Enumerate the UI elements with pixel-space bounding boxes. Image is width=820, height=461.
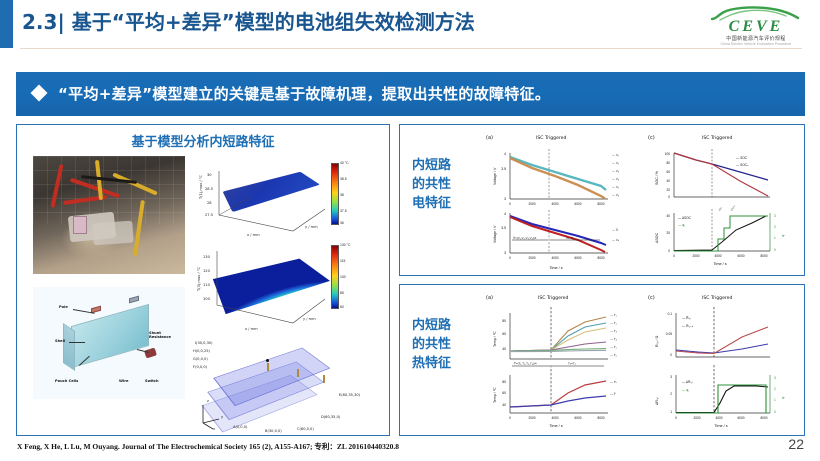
svg-text:2000: 2000 <box>528 416 535 420</box>
chart-c-svg: 100 80 60 40 20 0 SOC / % — SOC— SOCₙ 40 <box>646 135 798 269</box>
surface2-colorbar <box>331 245 339 309</box>
svg-text:2000: 2000 <box>693 416 700 420</box>
right-bottom-panel: 内短路 的共性 热特征 (a) ISC Triggered 80 60 40 T… <box>399 284 805 436</box>
module-point-label-B: B(30,0,0) <box>265 429 282 433</box>
svg-text:0: 0 <box>774 248 776 252</box>
svg-text:Time / s: Time / s <box>549 266 562 269</box>
chart-a-svg: 4 3.5 3 0 2000 4000 6000 8000 Voltage / … <box>484 135 634 269</box>
right-bottom-side-label-line-0: 内短路 <box>412 317 470 336</box>
chart-rb-a-isc-text: ISC Triggered <box>538 296 568 301</box>
title-separator: | <box>57 10 71 34</box>
pack-label-pouch-cells: Pouch Cells <box>55 379 78 383</box>
module-point-label-A: A(0,0,0) <box>233 425 247 429</box>
svg-text:— T₄: — T₄ <box>610 337 618 341</box>
header-accent-bar <box>0 0 13 48</box>
svg-text:2: 2 <box>774 387 776 391</box>
svg-text:— V₁: — V₁ <box>612 153 619 157</box>
battery-module-3d-probe-map: z y x I(30,0,30) H(0,0,25) G(0,0,0) F(0,… <box>193 327 383 433</box>
svg-text:0: 0 <box>509 202 511 206</box>
logo-en-name: China Electric Vehicle Evaluation Proced… <box>704 42 808 46</box>
left-panel-title: 基于模型分析内短路特征 <box>17 131 389 150</box>
right-top-side-label-line-1: 的共性 <box>412 176 470 195</box>
title-text: 基于“平均+差异”模型的电池组失效检测方法 <box>72 10 475 34</box>
svg-text:— ΔSOC: — ΔSOC <box>678 216 692 220</box>
surface1-colorbar-tick-2: 38 <box>340 193 344 197</box>
svg-text:φ: φ <box>781 234 785 237</box>
svg-text:t=tₑₙₐ: t=tₑₙₐ <box>729 204 735 211</box>
module-point-label-E: E(60,35,30) <box>339 393 360 397</box>
module-point-label-D: D(60,35,0) <box>321 415 340 419</box>
surface2-ylabel: y / mm <box>303 317 316 321</box>
module-point-label-I: I(30,0,30) <box>195 341 213 345</box>
svg-text:φ: φ <box>781 396 785 399</box>
svg-text:— T₆: — T₆ <box>610 353 618 357</box>
svg-text:— T₃: — T₃ <box>610 329 618 333</box>
surface1-colorbar-tick-0: 40 °C <box>340 161 349 165</box>
module-point-label-H: H(0,0,25) <box>193 349 210 353</box>
svg-text:8000: 8000 <box>597 202 604 206</box>
svg-text:80: 80 <box>502 380 506 384</box>
svg-text:R₍₁₎ / Ω: R₍₁₎ / Ω <box>655 335 659 347</box>
svg-text:0: 0 <box>668 195 670 199</box>
svg-text:6000: 6000 <box>737 416 744 420</box>
svg-text:6000: 6000 <box>574 416 581 420</box>
surface2-ztick-1: 120 <box>203 269 210 273</box>
svg-text:Time / s: Time / s <box>714 424 727 428</box>
chart-voltage-group: (a) ISC Triggered 4 3.5 3 0 2000 4000 60… <box>484 135 634 269</box>
svg-text:ΔSOC: ΔSOC <box>655 232 659 243</box>
chart-rb-c-isc-annotation: ISC Triggered <box>702 296 732 301</box>
module-axis-z: z <box>207 399 209 403</box>
chart-soc-group: (c) ISC Triggered 100 80 60 40 20 0 SOC … <box>646 135 798 269</box>
surface2-ztick-3: 100 <box>203 297 210 301</box>
svg-text:40: 40 <box>666 179 670 183</box>
svg-text:— Vₕ: — Vₕ <box>612 238 620 242</box>
section-number: 2.3 <box>22 10 57 34</box>
svg-text:ΔR₍₁₎: ΔR₍₁₎ <box>655 397 659 405</box>
module-point-label-G: G(0,0,0) <box>193 357 208 361</box>
svg-text:— T₂: — T₂ <box>610 321 618 325</box>
surface1-colorbar-tick-4: 36 <box>340 221 344 225</box>
svg-text:2000: 2000 <box>528 256 535 260</box>
chart-resistance-group: (c) ISC Triggered 0.1 0.05 0 R₍₁₎ / Ω — … <box>646 295 798 429</box>
logo-wordmark: CEVE <box>704 18 808 36</box>
module-point-label-C: C(60,0,0) <box>297 427 314 431</box>
svg-text:1: 1 <box>774 236 776 240</box>
footer-reference: X Feng, X He, L Lu, M Ouyang. Journal of… <box>17 441 399 452</box>
left-figure-group: Pole Shell Pouch Cells Wire Switch Shunt… <box>21 151 387 433</box>
battery-test-rig-photo <box>33 156 185 274</box>
svg-text:— SOCₙ: — SOCₙ <box>736 163 749 167</box>
battery-pack-exploded-diagram: Pole Shell Pouch Cells Wire Switch Shunt… <box>33 287 185 399</box>
chart-c-fig-tag: (c) <box>648 135 655 141</box>
surface1-ztick-2: 28 <box>207 201 212 205</box>
svg-text:Tₕ=T₂: Tₕ=T₂ <box>568 362 577 366</box>
surface2-zlabel: T(3),max / °C <box>197 267 201 291</box>
surface1-zlabel: T(1),max / °C <box>199 175 203 199</box>
svg-text:0.1: 0.1 <box>668 312 673 316</box>
svg-text:60: 60 <box>502 332 506 336</box>
chart-a-isc-annotation: ISC Triggered <box>536 136 566 141</box>
svg-text:0: 0 <box>670 353 672 357</box>
pack-shell-side <box>63 323 75 371</box>
right-top-side-label-line-0: 内短路 <box>412 157 470 176</box>
chart-rb-a-svg: 80 60 40 Temp / ℃ — T₁— T₂ — T₃— T₄ — T₅… <box>484 295 634 429</box>
surface1-colorbar-tick-3: 37.5 <box>340 209 347 213</box>
pack-label-shell: Shell <box>55 339 65 343</box>
svg-text:3: 3 <box>774 376 776 380</box>
pack-shell-body <box>71 304 149 368</box>
svg-text:3: 3 <box>504 197 506 201</box>
slide-header: 2.3| 基于“平均+差异”模型的电池组失效检测方法 CEVE 中国新能源汽车评… <box>0 0 820 55</box>
svg-text:— ΔR₍₁₎: — ΔR₍₁₎ <box>682 380 693 384</box>
svg-text:4000: 4000 <box>714 254 721 258</box>
svg-text:— T₁: — T₁ <box>610 313 617 317</box>
surface1-ztick-1: 28.5 <box>205 187 213 191</box>
photo-sensor-tag <box>73 216 87 234</box>
pack-label-pole: Pole <box>59 305 68 309</box>
svg-text:— φ₁: — φ₁ <box>678 223 685 227</box>
svg-text:6000: 6000 <box>737 254 744 258</box>
svg-text:Temp / ℃: Temp / ℃ <box>493 387 497 403</box>
diamond-bullet-icon <box>31 85 48 102</box>
svg-text:20: 20 <box>666 188 670 192</box>
svg-text:8000: 8000 <box>760 416 767 420</box>
surface1-ztick-0: 30 <box>207 173 212 177</box>
chart-a-isc-text: ISC Triggered <box>536 136 566 141</box>
surface1-colorbar <box>331 163 339 225</box>
surface1-ztick-3: 27.5 <box>205 213 213 217</box>
svg-text:0.05: 0.05 <box>666 332 672 336</box>
svg-text:V̅=(V₁,V₂,V₃,V₄)/4: V̅=(V₁,V₂,V₃,V₄)/4 <box>513 236 537 240</box>
surface2-colorbar-tick-4: 60 <box>340 305 344 309</box>
page-number: 22 <box>788 436 804 452</box>
svg-text:— V₄: — V₄ <box>612 177 620 181</box>
surface2-colorbar-tick-0: 130 °C <box>340 243 350 247</box>
svg-text:T̅=(T₁,T₂,T₃,T₄)/4: T̅=(T₁,T₂,T₃,T₄)/4 <box>514 362 537 366</box>
pack-leader-shell <box>69 342 85 343</box>
svg-text:0: 0 <box>675 416 677 420</box>
surface1-axes <box>193 153 343 245</box>
chart-rb-a-isc-annotation: ISC Triggered <box>538 296 568 301</box>
temperature-surface-plot-flat: T(1),max / °C x / mm y / mm 30 28.5 28 2… <box>193 153 343 245</box>
surface1-xlabel: x / mm <box>247 233 260 237</box>
chart-a-fig-tag: (a) <box>486 135 493 141</box>
svg-text:3: 3 <box>504 251 506 255</box>
right-bottom-side-label: 内短路 的共性 热特征 <box>412 317 470 374</box>
logo-cn-name: 中国新能源汽车评价规程 <box>704 35 808 42</box>
module-axis-y: y <box>221 415 223 419</box>
svg-text:t=t₁: t=t₁ <box>717 206 722 211</box>
svg-text:Time / s: Time / s <box>549 424 562 428</box>
svg-text:Voltage / V: Voltage / V <box>493 167 497 185</box>
svg-text:0: 0 <box>673 254 675 258</box>
surface2-colorbar-tick-1: 115 <box>340 259 345 263</box>
svg-text:0: 0 <box>668 249 670 253</box>
svg-text:— V̅: — V̅ <box>612 228 618 232</box>
svg-text:0: 0 <box>509 256 511 260</box>
surface2-ztick-2: 110 <box>203 283 210 287</box>
surface2-colorbar-tick-3: 85 <box>340 291 344 295</box>
svg-text:— SOC: — SOC <box>736 156 748 160</box>
svg-text:SOC / %: SOC / % <box>655 170 659 185</box>
svg-text:4000: 4000 <box>551 256 558 260</box>
svg-text:— V₃: — V₃ <box>612 169 620 173</box>
svg-text:— T₅: — T₅ <box>610 345 618 349</box>
svg-text:20: 20 <box>666 231 670 235</box>
chart-temperature-group: (a) ISC Triggered 80 60 40 Temp / ℃ — T₁ <box>484 295 634 429</box>
svg-text:Time / s: Time / s <box>713 262 726 266</box>
module-point-label-F: F(0,0,0) <box>193 365 207 369</box>
svg-text:8000: 8000 <box>597 256 604 260</box>
svg-text:60: 60 <box>502 391 506 395</box>
svg-text:100: 100 <box>665 152 671 156</box>
surface1-ylabel: y / mm <box>305 225 318 229</box>
surface2-colorbar-tick-2: 100 <box>340 275 346 279</box>
svg-text:1: 1 <box>670 410 672 414</box>
banner-text: “平均+差异”模型建立的关键是基于故障机理，提取出共性的故障特征。 <box>58 83 550 104</box>
svg-text:4: 4 <box>504 152 506 156</box>
svg-text:2: 2 <box>670 392 672 396</box>
svg-text:1: 1 <box>774 398 776 402</box>
title-divider <box>20 48 802 49</box>
svg-text:Temp / ℃: Temp / ℃ <box>493 331 497 347</box>
svg-text:6000: 6000 <box>574 256 581 260</box>
svg-text:3: 3 <box>774 214 776 218</box>
svg-text:8000: 8000 <box>760 254 767 258</box>
svg-text:— R₍₁₎,ₙ: — R₍₁₎,ₙ <box>682 324 694 328</box>
right-top-side-label-line-2: 电特征 <box>412 195 470 214</box>
svg-text:— T̅: — T̅ <box>610 392 616 396</box>
svg-text:4000: 4000 <box>715 416 722 420</box>
svg-text:2: 2 <box>774 225 776 229</box>
svg-text:— φ₂: — φ₂ <box>682 388 690 392</box>
svg-text:0: 0 <box>509 416 511 420</box>
svg-text:3.5: 3.5 <box>501 167 506 171</box>
pack-label-switch: Switch <box>145 379 159 383</box>
svg-text:40: 40 <box>502 347 506 351</box>
svg-text:6000: 6000 <box>574 202 581 206</box>
pack-label-wire: Wire <box>119 379 128 383</box>
pack-label-shunt-resistance: Shunt Resistance <box>149 331 179 339</box>
svg-text:— V₆: — V₆ <box>612 193 620 197</box>
right-bottom-side-label-line-1: 的共性 <box>412 336 470 355</box>
photo-cell-block-2 <box>92 221 133 246</box>
chart-rb-c-svg: 0.1 0.05 0 R₍₁₎ / Ω — R̄₍₁₎— R₍₁₎,ₙ 3 2 … <box>646 295 798 429</box>
svg-text:3.5: 3.5 <box>501 226 506 230</box>
svg-text:40: 40 <box>502 403 506 407</box>
svg-text:3: 3 <box>670 375 672 379</box>
right-top-side-label: 内短路 的共性 电特征 <box>412 157 470 214</box>
module-axis-x: x <box>213 427 215 431</box>
pack-switch-body <box>144 347 157 358</box>
svg-text:4000: 4000 <box>551 202 558 206</box>
svg-text:— Tₕ: — Tₕ <box>610 380 618 384</box>
svg-text:2000: 2000 <box>528 202 535 206</box>
svg-text:— V₂: — V₂ <box>612 161 620 165</box>
ceve-logo: CEVE 中国新能源汽车评价规程 China Electric Vehicle … <box>704 6 808 48</box>
key-point-banner: “平均+差异”模型建立的关键是基于故障机理，提取出共性的故障特征。 <box>16 72 805 116</box>
svg-text:0: 0 <box>774 410 776 414</box>
svg-text:4: 4 <box>504 212 506 216</box>
svg-text:— R̄₍₁₎: — R̄₍₁₎ <box>682 316 691 320</box>
svg-text:Voltage / V: Voltage / V <box>493 225 497 243</box>
chart-rb-c-isc-text: ISC Triggered <box>702 296 732 301</box>
svg-text:Vₕ=V₂: Vₕ=V₂ <box>566 236 575 240</box>
svg-text:80: 80 <box>502 319 506 323</box>
svg-text:2000: 2000 <box>692 254 699 258</box>
surface1-colorbar-tick-1: 38.5 <box>340 177 347 181</box>
right-top-panel: 内短路 的共性 电特征 (a) ISC Triggered 4 3.5 3 0 … <box>399 124 805 276</box>
svg-text:4000: 4000 <box>551 416 558 420</box>
surface2-ztick-0: 130 <box>203 255 210 259</box>
right-bottom-side-label-line-2: 热特征 <box>412 355 470 374</box>
chart-c-isc-annotation: ISC Triggered <box>702 136 732 141</box>
page-title: 2.3| 基于“平均+差异”模型的电池组失效检测方法 <box>22 6 475 35</box>
chart-rb-a-fig-tag: (a) <box>486 295 493 301</box>
svg-text:80: 80 <box>666 161 670 165</box>
chart-c-isc-text: ISC Triggered <box>702 136 732 141</box>
svg-text:8000: 8000 <box>597 416 604 420</box>
pack-pole-2 <box>129 296 139 304</box>
svg-text:60: 60 <box>666 170 670 174</box>
svg-text:40: 40 <box>666 214 670 218</box>
chart-rb-c-fig-tag: (c) <box>648 295 655 301</box>
svg-text:— V₅: — V₅ <box>612 185 620 189</box>
left-content-panel: 基于模型分析内短路特征 Pole Shell Pouch Cel <box>16 124 390 436</box>
